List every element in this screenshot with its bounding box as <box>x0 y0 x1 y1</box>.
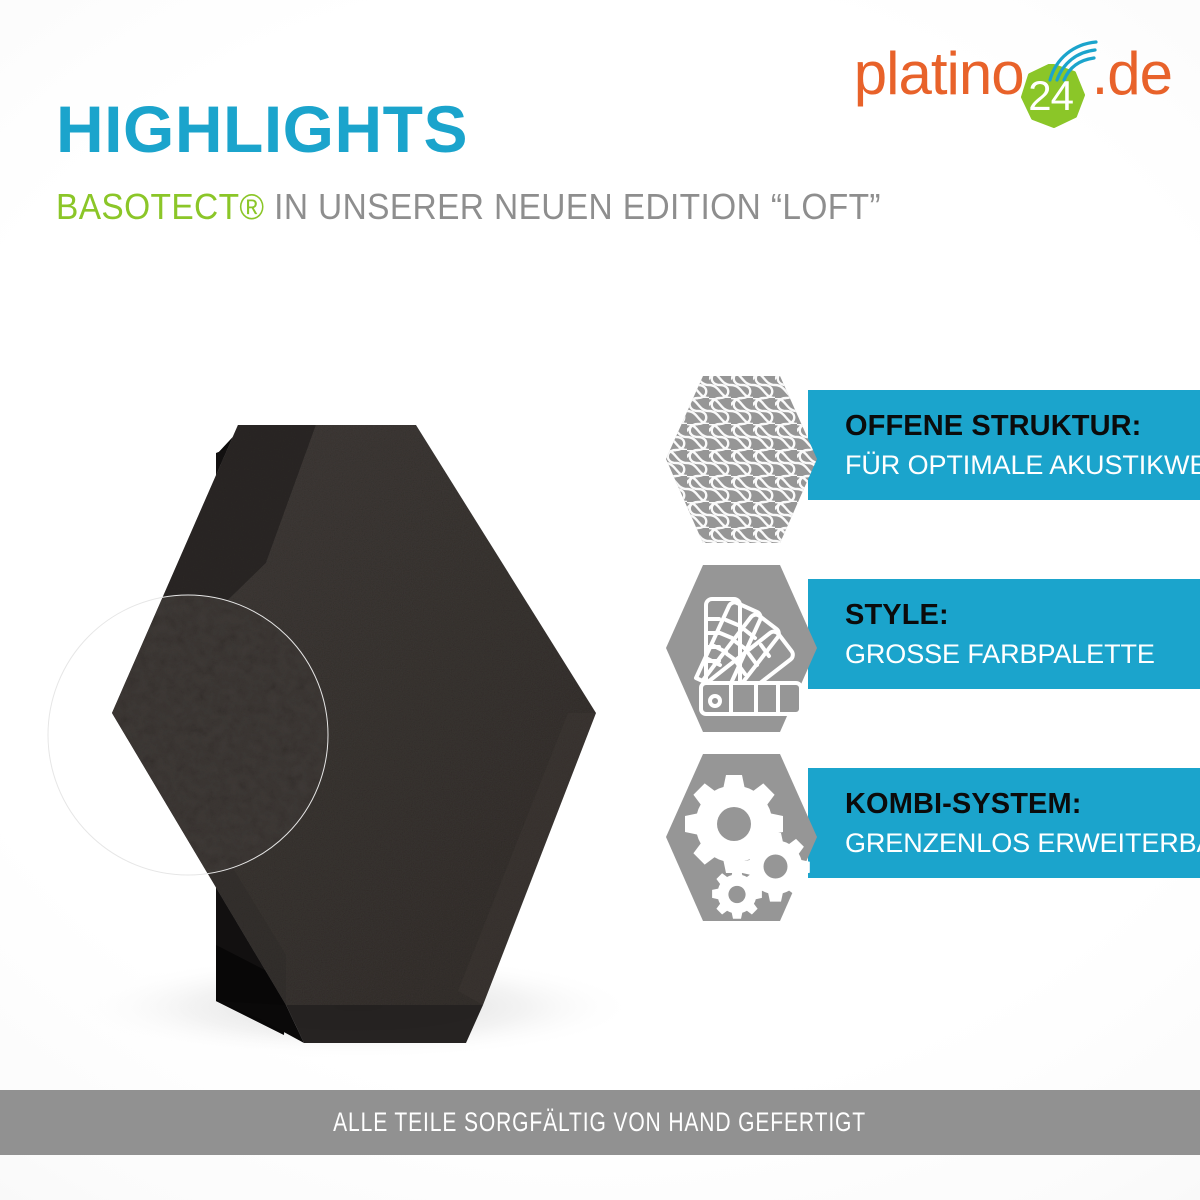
feature-title: KOMBI-SYSTEM: <box>845 787 1196 822</box>
logo-tld: .de <box>1092 44 1172 104</box>
gears-icon <box>665 750 818 925</box>
feature-text-block: STYLE: GROSSE FARBPALETTE <box>845 583 1196 687</box>
page-subtitle: BASOTECT® IN UNSERER NEUEN EDITION “LOFT… <box>56 189 881 225</box>
feature-title: STYLE: <box>845 598 1196 633</box>
feature-item-kombi-system[interactable]: KOMBI-SYSTEM: GRENZENLOS ERWEITERBAR <box>665 750 1200 925</box>
feature-title: OFFENE STRUKTUR: <box>845 409 1196 444</box>
mesh-structure-icon <box>665 372 818 547</box>
logo-wordmark: platino <box>854 44 1024 104</box>
page-title: HIGHLIGHTS <box>56 96 468 162</box>
feature-subtitle: FÜR OPTIMALE AKUSTIKWERTE <box>845 448 1196 483</box>
footer-banner: ALLE TEILE SORGFÄLTIG VON HAND GEFERTIGT <box>0 1090 1200 1155</box>
logo-badge: 24 <box>1018 50 1094 126</box>
feature-item-offene-struktur[interactable]: OFFENE STRUKTUR: FÜR OPTIMALE AKUSTIKWER… <box>665 372 1200 547</box>
feature-subtitle: GROSSE FARBPALETTE <box>845 637 1196 672</box>
footer-text: ALLE TEILE SORGFÄLTIG VON HAND GEFERTIGT <box>334 1107 867 1138</box>
subtitle-brand: BASOTECT® <box>56 186 264 227</box>
product-image <box>28 395 688 1065</box>
feature-text-block: OFFENE STRUKTUR: FÜR OPTIMALE AKUSTIKWER… <box>845 394 1196 498</box>
feature-item-style[interactable]: STYLE: GROSSE FARBPALETTE <box>665 561 1200 736</box>
feature-subtitle: GRENZENLOS ERWEITERBAR <box>845 826 1196 861</box>
feature-text-block: KOMBI-SYSTEM: GRENZENLOS ERWEITERBAR <box>845 772 1196 876</box>
logo-badge-number: 24 <box>1018 64 1084 128</box>
color-fan-icon <box>665 561 818 736</box>
infographic-page: HIGHLIGHTS BASOTECT® IN UNSERER NEUEN ED… <box>0 0 1200 1200</box>
brand-logo[interactable]: platino 24 .de <box>854 44 1172 120</box>
subtitle-rest: IN UNSERER NEUEN EDITION “LOFT” <box>274 186 881 227</box>
hexagon-panel-illustration <box>28 395 688 1065</box>
